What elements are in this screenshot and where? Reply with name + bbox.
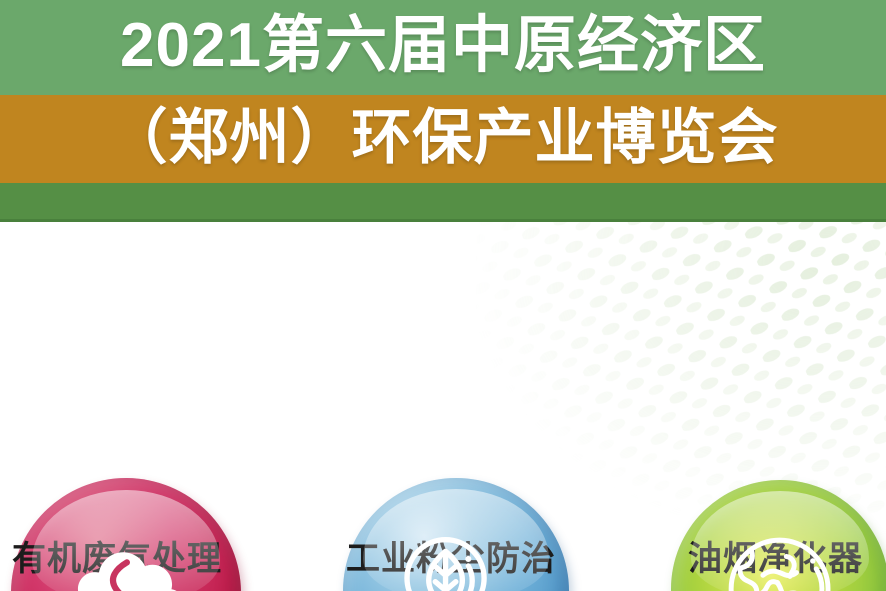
banner-band-green-top: 2021第六届中原经济区 [0,0,886,95]
banner-band-orange: （郑州）环保产业博览会 [0,95,886,183]
poster-title-line-2: （郑州）环保产业博览会 [108,108,779,168]
banner-band-green-bottom [0,183,886,222]
globe-earth-icon [712,521,847,591]
event-poster: 2021第六届中原经济区 （郑州）环保产业博览会 [0,0,886,591]
leaf-magnifier-icon [386,521,526,591]
cloud-smoke-icon [55,522,198,591]
poster-stage [0,222,886,591]
poster-title-line-1: 2021第六届中原经济区 [120,15,766,77]
poster-banner: 2021第六届中原经济区 （郑州）环保产业博览会 [0,0,886,222]
